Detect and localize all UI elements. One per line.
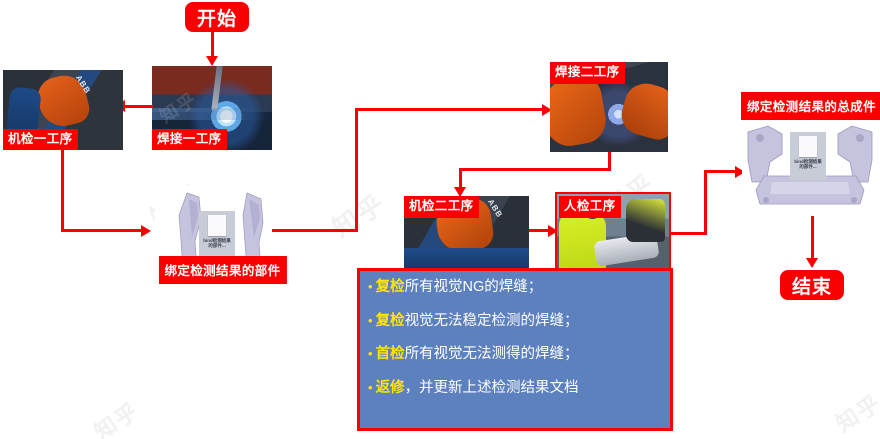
arrowhead-right	[141, 225, 151, 237]
node-bound-part[interactable]: bind检测结果 的部件... 绑定检测结果的部件	[155, 185, 290, 277]
node-welding-1[interactable]: 知乎 焊接一工序	[152, 66, 272, 150]
connector-human-right	[669, 232, 707, 235]
watermark-zhihu: 知乎	[324, 184, 391, 245]
human-inspection-note-box: • 复检 所有视觉NG的焊缝； • 复检 视觉无法稳定检测的焊缝； • 首检 所…	[357, 268, 673, 431]
bullet-icon: •	[368, 313, 373, 329]
connector-assembly-to-end	[811, 216, 814, 261]
connector-mi1-down	[61, 150, 64, 232]
document-icon: bind检测结果 的部件...	[199, 211, 235, 259]
connector-to-assembly	[704, 170, 738, 173]
note-keyword: 复检	[376, 279, 405, 296]
connector-to-welding2	[355, 108, 545, 111]
arrowhead-down	[806, 258, 818, 268]
watermark-zhihu: 知乎	[829, 386, 880, 439]
note-line: • 复检 所有视觉NG的焊缝；	[368, 279, 664, 296]
note-line: • 首检 所有视觉无法测得的焊缝；	[368, 346, 664, 363]
node-label-machine-inspect-2: 机检二工序	[404, 196, 479, 218]
inspected-part	[594, 232, 660, 266]
arrowhead-down	[206, 56, 218, 66]
node-bound-assembly[interactable]: bind检测结果 的部件... 绑定检测结果的总成件	[742, 120, 878, 218]
flowchart-canvas: 知乎 知乎 知乎 知乎 知乎 知乎 开始 知乎 焊接一工序 ABB 机检一工序	[0, 0, 880, 439]
node-label-machine-inspect-1: 机检一工序	[3, 129, 78, 151]
note-text: 所有视觉无法测得的焊缝；	[405, 346, 579, 363]
node-machine-inspect-1[interactable]: ABB 机检一工序	[3, 70, 123, 150]
node-label-human-inspect: 人检工序	[559, 196, 621, 218]
node-machine-inspect-2[interactable]: ABB 机检二工序	[404, 196, 529, 275]
connector-start-to-welding1	[211, 31, 214, 58]
node-label-welding-2: 焊接二工序	[550, 62, 625, 84]
node-welding-2[interactable]: 焊接二工序	[550, 62, 668, 152]
start-node[interactable]: 开始	[186, 3, 248, 31]
node-human-inspect[interactable]: 人检工序	[557, 194, 669, 276]
connector-welding1-to-mi1	[125, 105, 153, 108]
end-label: 结束	[792, 272, 832, 299]
node-label-bound-assembly: 绑定检测结果的总成件	[741, 92, 880, 120]
node-label-bound-part: 绑定检测结果的部件	[158, 256, 286, 284]
bullet-icon: •	[368, 279, 373, 295]
bullet-icon: •	[368, 346, 373, 362]
end-node[interactable]: 结束	[781, 271, 843, 299]
connector-part-up	[355, 108, 358, 232]
connector-human-up	[704, 170, 707, 235]
bullet-icon: •	[368, 380, 373, 396]
note-text: 所有视觉NG的焊缝；	[405, 279, 543, 296]
document-sheet	[208, 215, 227, 236]
document-sheet	[799, 136, 818, 157]
note-keyword: 返修	[376, 380, 405, 397]
document-icon: bind检测结果 的部件...	[790, 132, 826, 180]
note-line: • 返修 ，并更新上述检测结果文档	[368, 380, 664, 397]
note-text: ，并更新上述检测结果文档	[405, 380, 579, 397]
node-label-welding-1: 焊接一工序	[152, 129, 227, 151]
note-line: • 复检 视觉无法稳定检测的焊缝；	[368, 313, 664, 330]
connector-mi1-to-part	[61, 229, 143, 232]
note-keyword: 首检	[376, 346, 405, 363]
start-label: 开始	[197, 4, 237, 31]
connector-w2-left	[459, 168, 611, 171]
note-keyword: 复检	[376, 313, 405, 330]
document-caption: bind检测结果 的部件...	[200, 238, 233, 248]
document-caption: bind检测结果 的部件...	[791, 159, 824, 169]
connector-part-right	[272, 229, 358, 232]
watermark-zhihu: 知乎	[87, 394, 145, 439]
note-text: 视觉无法稳定检测的焊缝；	[405, 313, 579, 330]
